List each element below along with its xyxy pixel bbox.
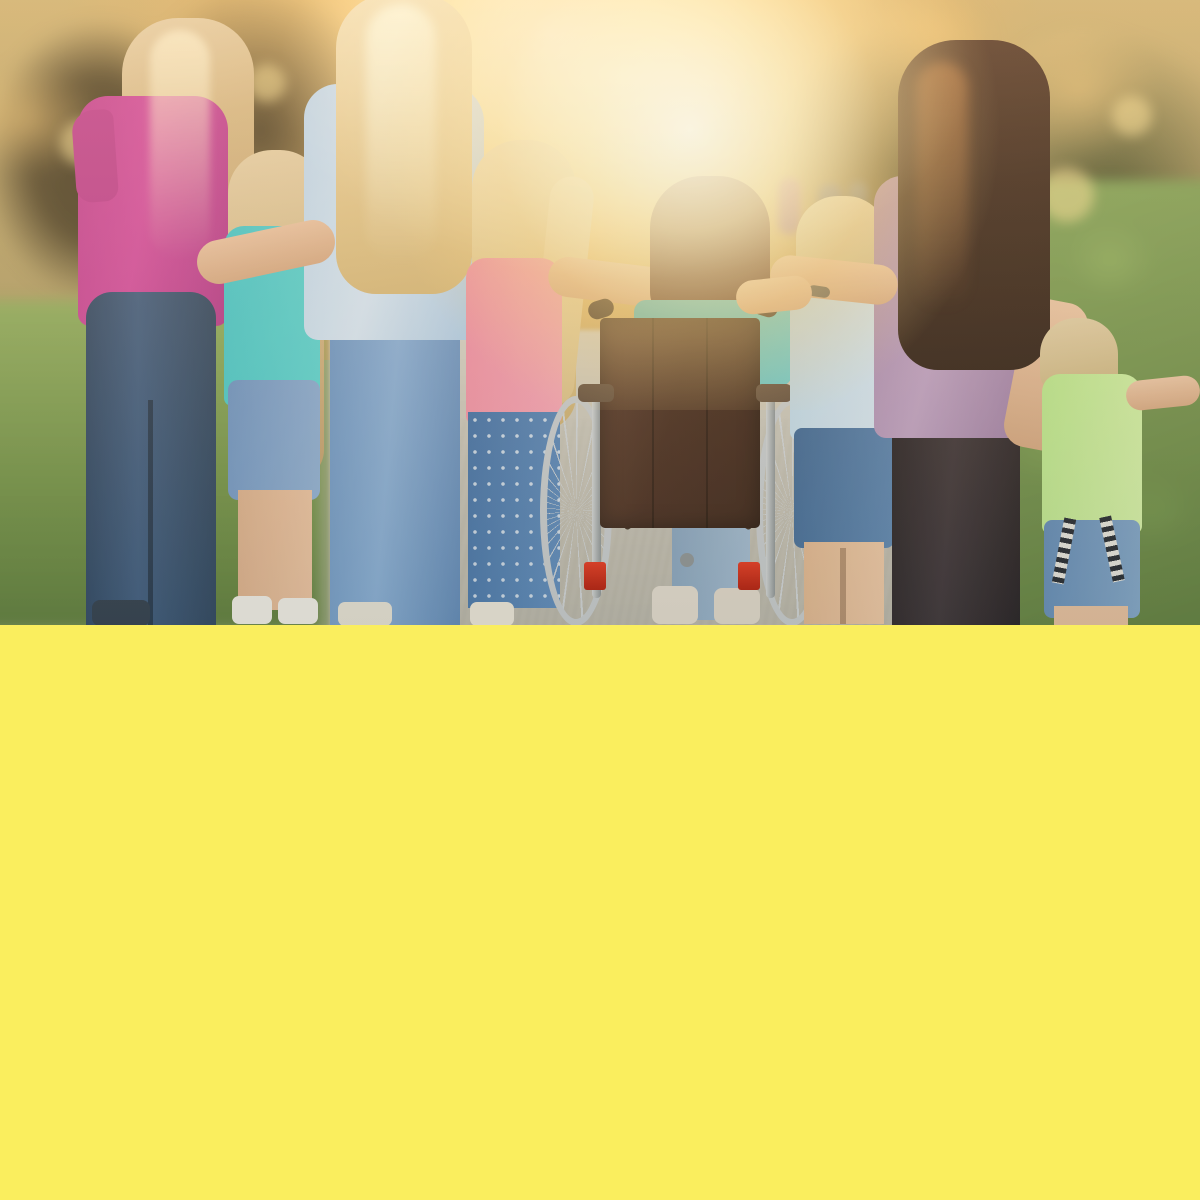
hero-photo xyxy=(0,0,1200,625)
person-2-legs xyxy=(238,490,312,610)
person-6-shorts xyxy=(794,428,894,548)
person-8-legs xyxy=(1054,606,1128,625)
wheelchair-backrest xyxy=(600,318,760,528)
person-1-hair-highlight xyxy=(150,30,210,260)
wheelchair-armrest-left xyxy=(578,384,614,402)
wheelchair-reflector-left xyxy=(584,562,606,590)
person-3-hair-highlight xyxy=(366,4,436,264)
wheelchair-backrest-seam-2 xyxy=(706,318,708,528)
person-4-shirt xyxy=(466,258,562,424)
person-5-foot-left xyxy=(652,586,698,624)
person-1-sleeve xyxy=(71,109,119,204)
person-2-shoe-right xyxy=(278,598,318,624)
person-2-shoe-left xyxy=(232,596,272,624)
person-7-hair-highlight xyxy=(916,62,968,312)
poster-canvas: disability inclusion noun making sure ev… xyxy=(0,0,1200,1200)
person-1-leg-gap xyxy=(148,400,153,625)
person-2-shorts xyxy=(228,380,320,500)
person-3-shoe xyxy=(338,602,392,625)
wheelchair-hub xyxy=(680,553,694,567)
wheelchair-backrest-seam-1 xyxy=(652,318,654,528)
definition-card: disability inclusion noun making sure ev… xyxy=(0,625,1200,1200)
person-4-shoe xyxy=(470,602,514,625)
person-6-leg-gap xyxy=(840,548,846,624)
wheelchair-reflector-right xyxy=(738,562,760,590)
person-5-foot-right xyxy=(714,588,760,624)
wheelchair-armrest-right xyxy=(756,384,792,402)
bokeh-light-2 xyxy=(1112,96,1152,136)
person-1-shoe xyxy=(92,600,150,625)
person-3-jeans xyxy=(330,310,460,625)
wheelchair-frame-right xyxy=(766,398,775,598)
